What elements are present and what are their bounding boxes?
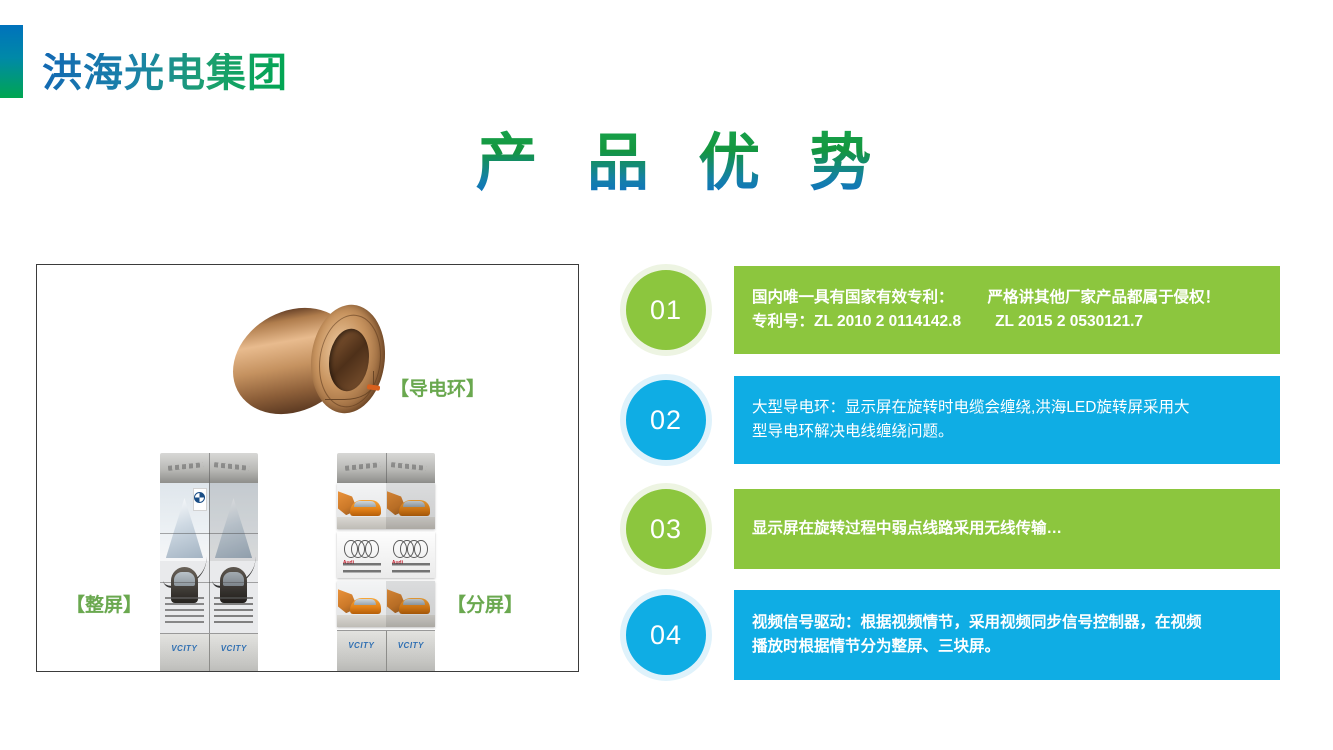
feature-text-bar-04: 视频信号驱动：根据视频情节，采用视频同步信号控制器，在视频 播放时根据情节分为整… xyxy=(734,590,1280,680)
page-title: 产 品 优 势 xyxy=(0,130,1333,198)
slip-ring-photo xyxy=(233,301,385,421)
feature-line-02a: 大型导电环：显示屏在旋转时电缆会缠绕,洪海LED旋转屏采用大 xyxy=(752,396,1264,420)
split-base-right: VCITY xyxy=(387,631,436,672)
feature-line-02b: 型导电环解决电线缠绕问题。 xyxy=(752,420,1264,444)
feature-row-01: 01 国内唯一具有国家有效专利：严格讲其他厂家产品都属于侵权！ 专利号：ZL 2… xyxy=(620,264,1280,356)
audi-rings-icon-left xyxy=(344,540,378,556)
tower-cap-text xyxy=(168,463,204,472)
audi-ad-pane-left-3 xyxy=(337,581,386,627)
audi-rings-pane-left: Audi xyxy=(337,532,386,578)
feature-row-04: 04 视频信号驱动：根据视频情节，采用视频同步信号控制器，在视频 播放时根据情节… xyxy=(620,589,1280,681)
screen-pane-left xyxy=(160,483,209,633)
tower-base: VCITY LED DISPLAY VCITY LED DISPLAY xyxy=(160,633,258,672)
feature-number-badge-03[interactable]: 03 xyxy=(620,483,712,575)
audi-car-3 xyxy=(350,598,381,615)
feature-line-01b: 专利号：ZL 2010 2 0114142.8ZL 2015 2 0530121… xyxy=(752,310,1264,334)
feature-number-badge-01[interactable]: 01 xyxy=(620,264,712,356)
feature-number-badge-04[interactable]: 04 xyxy=(620,589,712,681)
ad-ground-3 xyxy=(337,615,386,627)
split-tower-base: VCITY VCITY xyxy=(337,630,435,672)
ad-caption-text-right xyxy=(214,597,253,624)
vcity-logo-right: VCITY xyxy=(210,644,259,653)
tower-cap xyxy=(160,453,258,483)
screen-pane-right xyxy=(209,483,258,633)
split-tower-cap-text xyxy=(345,463,381,472)
split-panel-1 xyxy=(337,483,435,529)
split-tower-cap xyxy=(337,453,435,483)
split-tower-cap-text-right xyxy=(391,463,427,472)
feature-line-04b: 播放时根据情节分为整屏、三块屏。 xyxy=(752,635,1264,659)
audi-slogan-left xyxy=(343,563,381,573)
audi-ad-pane-right-1 xyxy=(386,483,435,529)
feature-row-03: 03 显示屏在旋转过程中弱点线路采用无线传输… xyxy=(620,483,1280,575)
whole-screen-tower-photo: VCITY LED DISPLAY VCITY LED DISPLAY xyxy=(160,453,258,672)
feature-line-04a: 视频信号驱动：根据视频情节，采用视频同步信号控制器，在视频 xyxy=(752,611,1264,635)
tower-base-left: VCITY LED DISPLAY xyxy=(160,634,210,672)
split-base-left: VCITY xyxy=(337,631,387,672)
audi-rings-icon-right xyxy=(393,540,427,556)
tower-edge-divider xyxy=(209,483,210,633)
ad-caption-text xyxy=(165,597,204,624)
split-screen-tower-photo: Audi Audi xyxy=(337,453,435,672)
feature-line-01a: 国内唯一具有国家有效专利：严格讲其他厂家产品都属于侵权！ xyxy=(752,286,1264,310)
feature-row-02: 02 大型导电环：显示屏在旋转时电缆会缠绕,洪海LED旋转屏采用大 型导电环解决… xyxy=(620,374,1280,466)
audi-ad-pane-left-1 xyxy=(337,483,386,529)
tower-base-right: VCITY LED DISPLAY xyxy=(210,634,259,672)
vcity-logo-split-right: VCITY xyxy=(387,641,436,650)
feature-list: 01 国内唯一具有国家有效专利：严格讲其他厂家产品都属于侵权！ 专利号：ZL 2… xyxy=(620,264,1280,684)
feature-line-03a: 显示屏在旋转过程中弱点线路采用无线传输… xyxy=(752,517,1264,541)
feature-text-bar-03: 显示屏在旋转过程中弱点线路采用无线传输… xyxy=(734,489,1280,569)
audi-car-1 xyxy=(350,500,381,517)
ad-ground-1r xyxy=(386,517,435,529)
bmw-logo-icon xyxy=(193,488,207,511)
audi-slogan-right xyxy=(392,563,430,573)
vcity-logo-left: VCITY xyxy=(160,644,209,653)
tower-cap-text-right xyxy=(214,463,250,472)
audi-rings-pane-right: Audi xyxy=(386,532,435,578)
caption-whole-screen: 【整屏】 xyxy=(66,590,142,617)
caption-slip-ring: 【导电环】 xyxy=(390,374,485,401)
logo-accent-bar xyxy=(0,25,23,98)
audi-car-1r xyxy=(399,500,430,517)
slide-header: 洪海光电集团 xyxy=(0,25,400,100)
caption-split-screen: 【分屏】 xyxy=(447,590,523,617)
whole-screen-display xyxy=(160,483,258,633)
split-panel-3 xyxy=(337,581,435,627)
split-panel-2: Audi Audi xyxy=(337,532,435,578)
feature-text-bar-02: 大型导电环：显示屏在旋转时电缆会缠绕,洪海LED旋转屏采用大 型导电环解决电线缠… xyxy=(734,376,1280,464)
audi-car-3r xyxy=(399,598,430,615)
feature-text-bar-01: 国内唯一具有国家有效专利：严格讲其他厂家产品都属于侵权！ 专利号：ZL 2010… xyxy=(734,266,1280,354)
audi-ad-pane-right-3 xyxy=(386,581,435,627)
company-logo-text: 洪海光电集团 xyxy=(42,53,288,93)
feature-number-badge-02[interactable]: 02 xyxy=(620,374,712,466)
ad-ground-1 xyxy=(337,517,386,529)
ad-ground-3r xyxy=(386,615,435,627)
vcity-logo-split-left: VCITY xyxy=(337,641,386,650)
